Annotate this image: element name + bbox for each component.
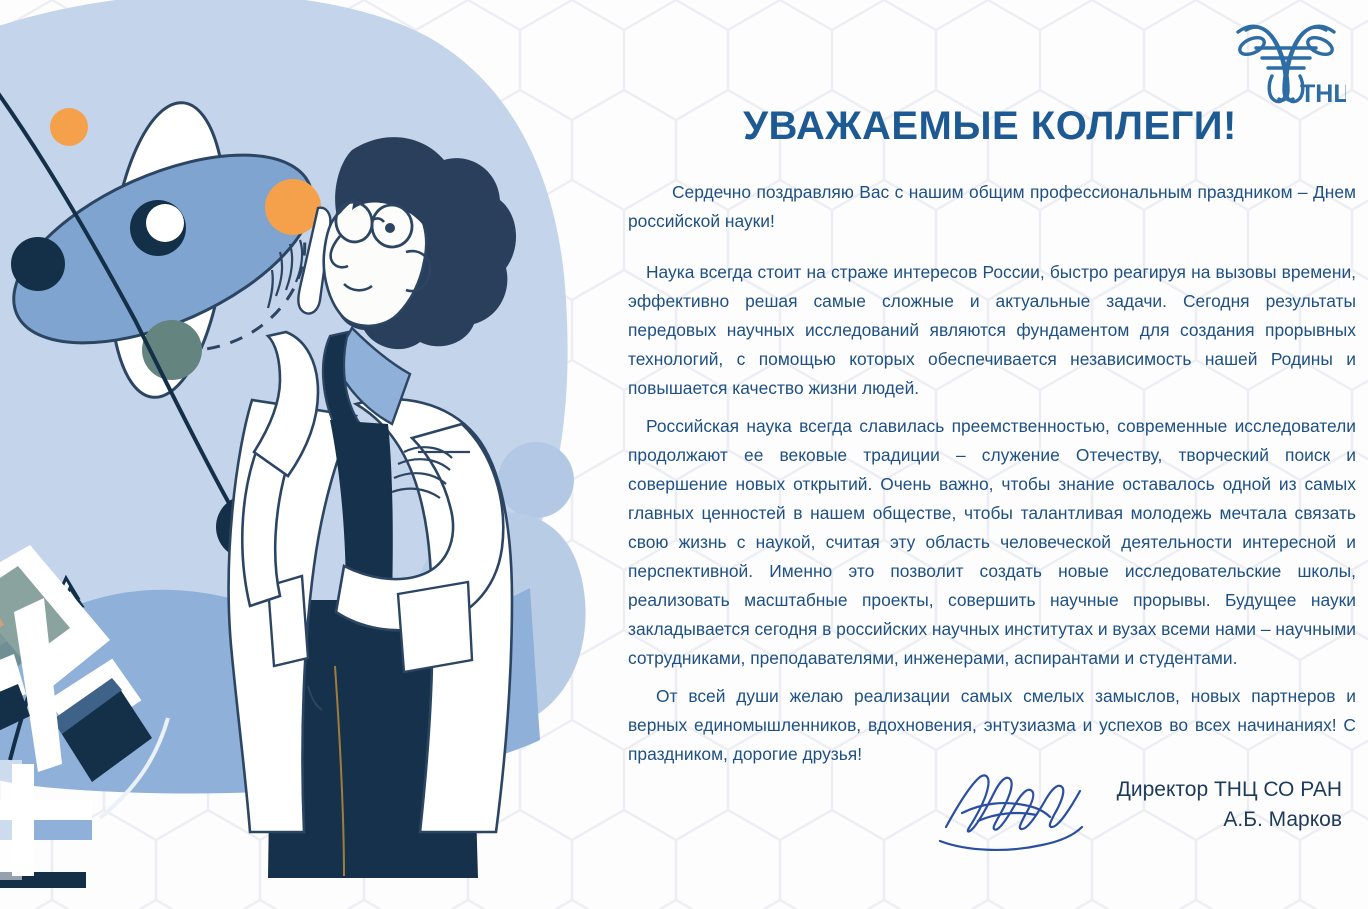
tnc-logo: ТНЦ [1226, 10, 1346, 110]
signature-text: Директор ТНЦ СО РАН А.Б. Марков [1117, 775, 1342, 835]
paragraph-lead: Сердечно поздравляю Вас с нашим общим пр… [628, 178, 1356, 236]
signature-person: А.Б. Марков [1117, 805, 1342, 835]
signature-title: Директор ТНЦ СО РАН [1117, 775, 1342, 805]
letter-body: Сердечно поздравляю Вас с нашим общим пр… [628, 178, 1356, 769]
page-title: УВАЖАЕМЫЕ КОЛЛЕГИ! [620, 104, 1360, 148]
signature-block: Директор ТНЦ СО РАН А.Б. Марков [922, 765, 1342, 865]
paragraph-2: Российская наука всегда славилась преемс… [628, 412, 1356, 673]
electron-orange-top [50, 108, 88, 146]
coat-pocket-right [398, 582, 472, 672]
blob-circle-small [498, 442, 574, 518]
scientist-illustration [0, 0, 600, 909]
paragraph-3: От всей души желаю реализации самых смел… [628, 682, 1356, 769]
scientist-eye [385, 223, 395, 233]
handwritten-signature [932, 765, 1122, 855]
electron-dark [11, 237, 65, 291]
letter-content: ТНЦ УВАЖАЕМЫЕ КОЛЛЕГИ! Сердечно поздравл… [620, 0, 1360, 909]
paragraph-1: Наука всегда стоит на страже интересов Р… [628, 258, 1356, 403]
greeting-poster: ТНЦ УВАЖАЕМЫЕ КОЛЛЕГИ! Сердечно поздравл… [0, 0, 1368, 909]
